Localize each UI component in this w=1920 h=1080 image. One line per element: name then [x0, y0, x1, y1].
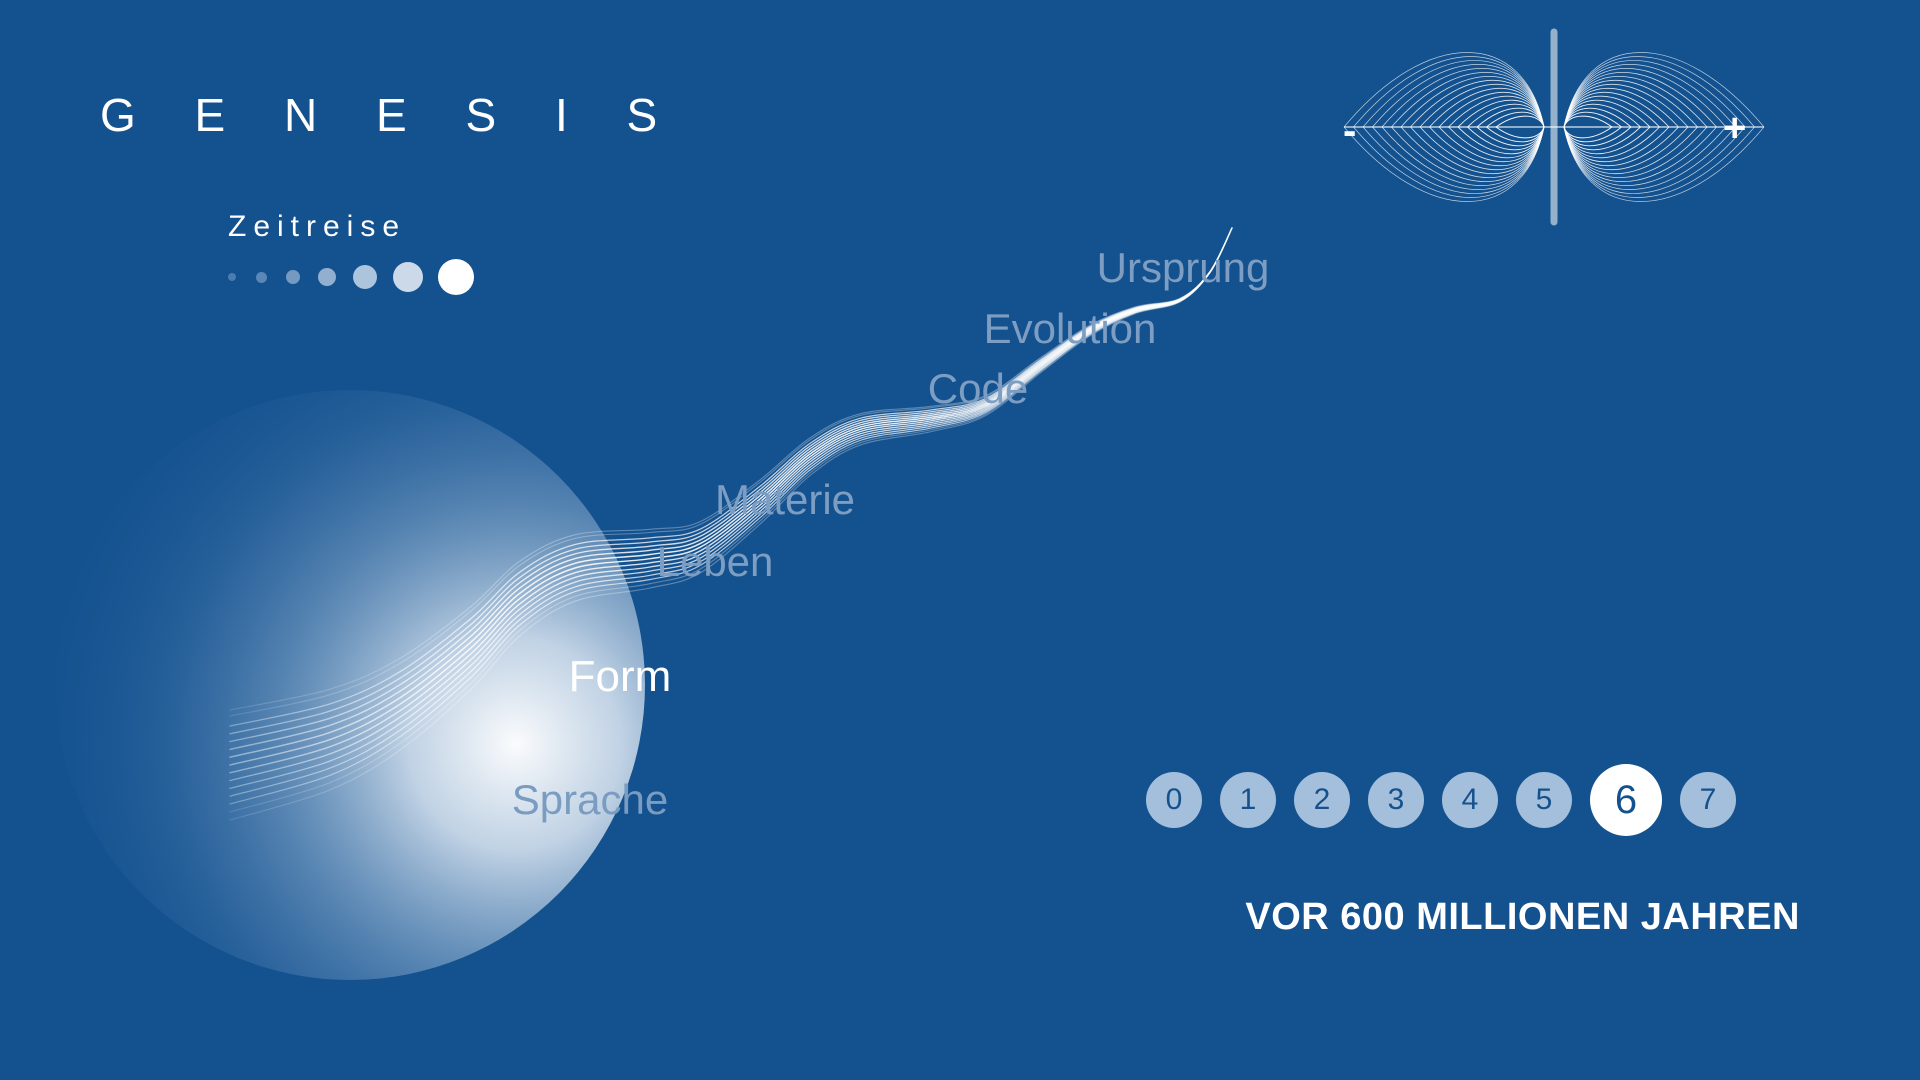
genesis-timeline-screen: G E N E S I S Zeitreise - + SpracheFormL…: [0, 0, 1920, 1080]
stage-label-form[interactable]: Form: [569, 655, 672, 699]
lens-strand-0-9: [1411, 80, 1545, 127]
lens-strand-3-12: [1564, 127, 1726, 186]
ribbon-halo-0: [230, 228, 1232, 710]
lens-strand-3-1: [1564, 127, 1622, 142]
page-dot-7[interactable]: 7: [1680, 772, 1736, 828]
lens-strand-3-3: [1564, 127, 1641, 150]
lens-strand-2-8: [1420, 127, 1544, 170]
stage-label-sprache[interactable]: Sprache: [512, 779, 668, 821]
lens-strand-3-4: [1564, 127, 1650, 154]
page-dot-0[interactable]: 0: [1146, 772, 1202, 828]
lens-strand-2-0: [1496, 127, 1544, 138]
lens-strand-3-14: [1564, 127, 1745, 194]
lens-strand-1-9: [1564, 80, 1698, 127]
lens-strand-1-6: [1564, 92, 1669, 127]
lens-strand-2-4: [1458, 127, 1544, 154]
page-title: G E N E S I S: [100, 92, 680, 138]
lens-strand-2-6: [1439, 127, 1544, 162]
zeitreise-progress-dots[interactable]: [228, 260, 474, 294]
lens-strand-2-15: [1354, 127, 1545, 198]
lens-strand-1-5: [1564, 96, 1660, 127]
era-caption: VOR 600 MILLIONEN JAHREN: [1245, 898, 1800, 936]
stage-label-leben[interactable]: Leben: [657, 541, 774, 583]
page-dot-3[interactable]: 3: [1368, 772, 1424, 828]
lens-strand-1-2: [1564, 108, 1631, 127]
lens-strand-2-7: [1430, 127, 1545, 166]
progress-dot-0[interactable]: [228, 273, 236, 281]
lens-strand-3-9: [1564, 127, 1698, 174]
lens-strand-1-14: [1564, 60, 1745, 127]
lens-strand-2-3: [1468, 127, 1545, 150]
lens-strand-3-7: [1564, 127, 1679, 166]
lens-strand-0-15: [1354, 56, 1545, 127]
lens-strand-1-13: [1564, 64, 1736, 127]
lens-strand-2-5: [1449, 127, 1545, 158]
lens-mark-strands: [1344, 32, 1764, 222]
minus-icon[interactable]: -: [1343, 111, 1356, 151]
lens-strand-2-13: [1373, 127, 1545, 190]
lens-strand-1-7: [1564, 88, 1679, 127]
lens-strand-1-0: [1564, 116, 1612, 127]
lens-strand-2-1: [1487, 127, 1545, 142]
plus-icon[interactable]: +: [1723, 108, 1746, 148]
lens-strand-3-8: [1564, 127, 1688, 170]
progress-dot-2[interactable]: [286, 270, 300, 284]
progress-dot-3[interactable]: [318, 268, 336, 286]
lens-strand-2-9: [1411, 127, 1545, 174]
page-dot-2[interactable]: 2: [1294, 772, 1350, 828]
progress-dot-1[interactable]: [256, 272, 267, 283]
lens-strand-0-3: [1468, 104, 1545, 127]
progress-dot-4[interactable]: [353, 265, 377, 289]
stage-label-evolution[interactable]: Evolution: [984, 308, 1157, 350]
lens-strand-0-11: [1392, 72, 1545, 127]
timeline-pagination[interactable]: 01234567: [1146, 752, 1736, 848]
lens-strand-3-5: [1564, 127, 1660, 158]
lens-strand-0-13: [1373, 64, 1545, 127]
lens-strand-3-0: [1564, 127, 1612, 138]
lens-strand-3-11: [1564, 127, 1717, 182]
progress-dot-6[interactable]: [438, 259, 474, 295]
lens-strand-0-6: [1439, 92, 1544, 127]
lens-strand-1-11: [1564, 72, 1717, 127]
lens-strand-3-2: [1564, 127, 1631, 146]
lens-strand-0-5: [1449, 96, 1545, 127]
page-dot-6[interactable]: 6: [1590, 764, 1662, 836]
lens-strand-2-2: [1477, 127, 1544, 146]
lens-strand-1-4: [1564, 100, 1650, 127]
page-dot-1[interactable]: 1: [1220, 772, 1276, 828]
lens-strand-0-4: [1458, 100, 1544, 127]
lens-strand-3-6: [1564, 127, 1669, 162]
lens-strand-1-10: [1564, 76, 1707, 127]
progress-dot-5[interactable]: [393, 262, 423, 292]
lens-strand-1-3: [1564, 104, 1641, 127]
lens-strand-0-8: [1420, 84, 1544, 127]
lens-strand-0-12: [1382, 68, 1544, 127]
lens-strand-0-16: [1344, 52, 1544, 127]
lens-strand-0-2: [1477, 108, 1544, 127]
lens-strand-2-16: [1344, 127, 1544, 202]
ribbon-halo-1: [230, 228, 1232, 716]
stage-label-ursprung[interactable]: Ursprung: [1097, 247, 1270, 289]
stage-label-materie[interactable]: Materie: [715, 479, 855, 521]
lens-strand-2-11: [1392, 127, 1545, 182]
lens-strand-2-14: [1363, 127, 1544, 194]
lens-strand-3-13: [1564, 127, 1736, 190]
origin-sphere: [55, 390, 645, 980]
stage-label-code[interactable]: Code: [928, 368, 1028, 410]
lens-strand-0-1: [1487, 112, 1545, 127]
lens-strand-1-8: [1564, 84, 1688, 127]
lens-strand-3-10: [1564, 127, 1707, 178]
lens-strand-1-1: [1564, 112, 1622, 127]
lens-strand-2-10: [1401, 127, 1544, 178]
lens-strand-2-12: [1382, 127, 1544, 186]
page-dot-4[interactable]: 4: [1442, 772, 1498, 828]
subtitle: Zeitreise: [228, 212, 406, 242]
lens-strand-0-7: [1430, 88, 1545, 127]
page-dot-5[interactable]: 5: [1516, 772, 1572, 828]
lens-strand-1-12: [1564, 68, 1726, 127]
lens-strand-0-10: [1401, 76, 1544, 127]
lens-strand-0-14: [1363, 60, 1544, 127]
lens-strand-0-0: [1496, 116, 1544, 127]
